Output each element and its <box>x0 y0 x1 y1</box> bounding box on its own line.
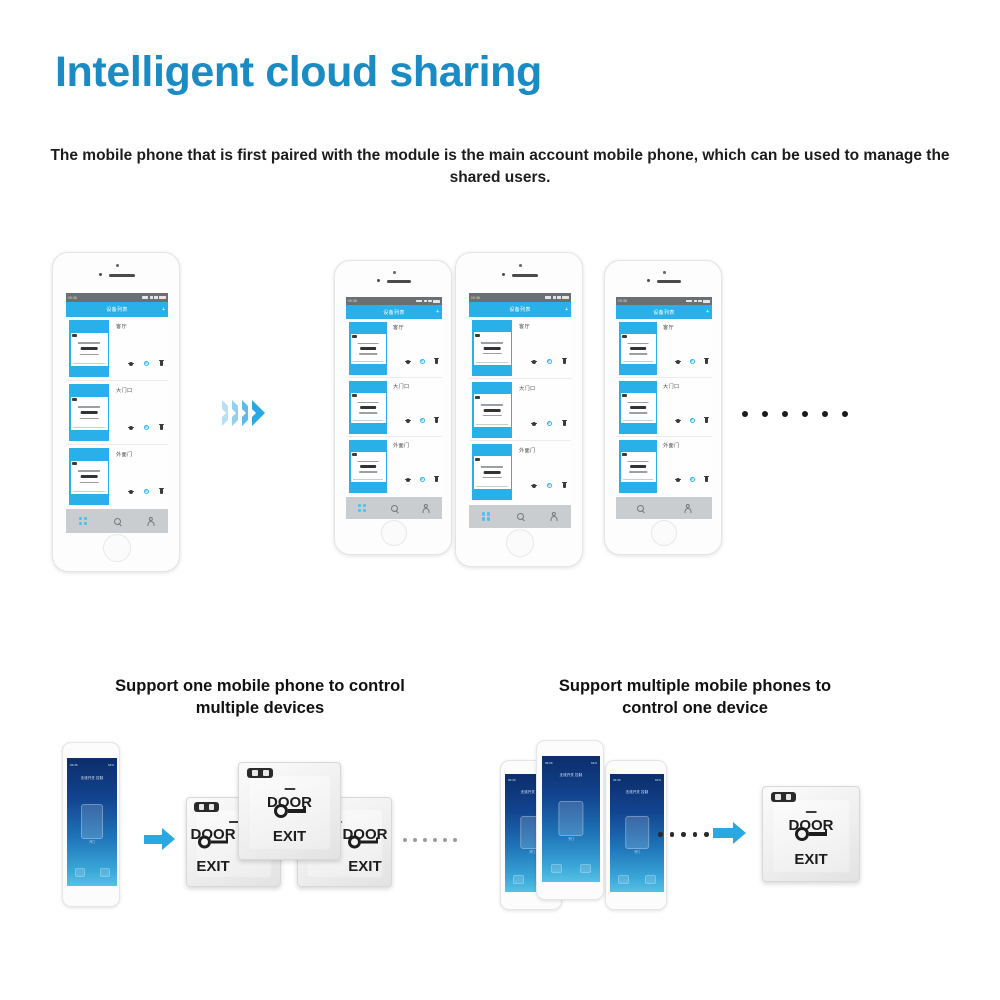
device-name: 外面门 <box>393 442 409 449</box>
power-icon[interactable] <box>420 477 425 482</box>
bottom-nav <box>346 497 442 519</box>
led-icon <box>72 462 77 465</box>
key-icon <box>484 471 501 474</box>
led-indicator <box>771 792 796 802</box>
dot <box>423 838 427 842</box>
signal-icon <box>424 300 427 303</box>
battery-percent-icon <box>686 300 692 303</box>
bottom-actions <box>610 875 664 884</box>
earpiece-icon <box>657 280 681 283</box>
device-list: 客厅 大门口 <box>66 317 168 509</box>
nav-item-profile[interactable] <box>664 504 712 513</box>
dot <box>693 832 698 837</box>
delete-icon[interactable] <box>563 421 566 426</box>
share-icon[interactable] <box>532 360 536 364</box>
phone-screen: 09:36 设备列表 + 客厅 <box>346 297 442 519</box>
key-icon <box>484 347 501 350</box>
device-thumbnail <box>472 444 512 500</box>
app-title: 设备列表 <box>653 309 675 316</box>
nav-item-home[interactable] <box>346 504 378 513</box>
share-icon[interactable] <box>532 484 536 488</box>
power-icon[interactable] <box>144 425 149 430</box>
grid-icon <box>358 504 367 513</box>
status-bar: 09:36 64% <box>67 758 117 772</box>
key-ring <box>795 827 809 841</box>
add-device-button[interactable]: + <box>565 307 568 313</box>
key-ring <box>274 804 288 818</box>
nav-item-profile[interactable] <box>134 517 168 526</box>
device-thumbnail <box>619 440 657 493</box>
status-icons <box>142 296 168 300</box>
status-battery: 64% <box>108 763 114 767</box>
table-row[interactable]: 外面门 <box>469 441 571 503</box>
signal-icon <box>694 300 697 303</box>
key-icon <box>795 827 827 841</box>
power-icon[interactable] <box>547 421 552 426</box>
key-icon <box>630 347 646 350</box>
device-name: 客厅 <box>393 324 404 331</box>
app-header-bar: 设备列表 + <box>346 305 442 319</box>
table-row[interactable]: 客厅 <box>346 319 442 378</box>
led-icon <box>475 334 480 337</box>
plate-word-bottom: EXIT <box>318 858 392 875</box>
section-heading-left-line1: Support one mobile phone to control <box>45 675 475 697</box>
control-phone-left: 09:36 64% 无线开关 控制 开门 <box>62 742 120 907</box>
dot <box>762 411 768 417</box>
grid-icon <box>482 512 491 521</box>
led-icon <box>622 453 627 456</box>
control-phone-right-2: 09:36 64% 无线开关 控制 开门 <box>536 740 604 900</box>
status-bar: 09:36 <box>616 297 712 305</box>
search-icon <box>114 518 121 525</box>
proximity-sensor-icon <box>377 279 380 282</box>
wifi-icon <box>154 296 158 299</box>
power-icon[interactable] <box>547 483 552 488</box>
unlock-button[interactable] <box>625 816 649 849</box>
status-time: 09:36 <box>346 299 357 303</box>
bottom-nav <box>616 497 712 519</box>
chevron-right-icon <box>252 400 265 426</box>
wifi-icon <box>698 300 702 303</box>
nav-item-profile[interactable] <box>537 512 571 521</box>
dot <box>742 411 748 417</box>
status-time: 09:36 <box>469 295 480 299</box>
shared-user-phone-2: 09:36 设备列表 + 客厅 <box>455 252 583 567</box>
status-time: 09:36 <box>616 299 627 303</box>
add-device-button[interactable]: + <box>436 309 439 315</box>
app-title: 无线开关 控制 <box>67 775 117 780</box>
battery-percent-icon <box>142 296 148 299</box>
key-shaft <box>288 809 306 813</box>
action-button[interactable] <box>645 875 656 884</box>
plate-word-bottom: EXIT <box>239 828 340 845</box>
led-indicator <box>247 768 273 779</box>
app-title: 无线开关 控制 <box>610 789 664 794</box>
row-actions <box>676 418 708 423</box>
dot <box>681 832 686 837</box>
led-icon <box>352 453 357 456</box>
action-button[interactable] <box>75 868 85 877</box>
door-exit-switch-front: DOOR EXIT <box>238 762 341 860</box>
row-actions <box>532 359 566 364</box>
device-name: 客厅 <box>116 323 127 330</box>
app-title: 设备列表 <box>383 309 405 316</box>
delete-icon[interactable] <box>563 483 566 488</box>
action-button[interactable] <box>580 864 591 873</box>
delete-icon[interactable] <box>563 359 566 364</box>
signal-icon <box>150 296 153 299</box>
phone-screen: 09:36 设备列表 + 客厅 <box>616 297 712 519</box>
device-thumbnail <box>472 320 512 376</box>
dot <box>433 838 437 842</box>
delete-icon[interactable] <box>160 489 163 494</box>
nav-item-search[interactable] <box>616 505 664 512</box>
dot <box>782 411 788 417</box>
proximity-sensor-icon <box>99 273 102 276</box>
table-row[interactable]: 外面门 <box>346 437 442 496</box>
nav-item-search[interactable] <box>100 518 134 525</box>
action-button[interactable] <box>551 864 562 873</box>
nav-item-home[interactable] <box>66 517 100 526</box>
device-name: 外面门 <box>519 447 535 454</box>
door-exit-switch-single: DOOR EXIT <box>762 786 860 882</box>
key-icon <box>630 465 646 468</box>
section-heading-right-line1: Support multiple mobile phones to <box>480 675 910 697</box>
nav-item-home[interactable] <box>469 512 503 521</box>
device-name: 大门口 <box>519 385 535 392</box>
phone-screen: 09:36 设备列表 + <box>66 293 168 533</box>
page-subtitle: The mobile phone that is first paired wi… <box>50 145 950 190</box>
wifi-icon <box>428 300 432 303</box>
status-time: 09:36 <box>508 778 516 782</box>
front-camera-icon <box>116 264 119 267</box>
row-actions <box>406 477 438 482</box>
user-icon <box>147 517 155 526</box>
status-time: 09:36 <box>545 761 553 765</box>
phone-screen: 09:36 64% 无线开关 控制 开门 <box>67 758 117 886</box>
row-actions <box>676 359 708 364</box>
share-icon[interactable] <box>129 426 133 430</box>
unlock-label: 开门 <box>610 850 664 854</box>
share-icon[interactable] <box>676 419 680 423</box>
action-button[interactable] <box>618 875 629 884</box>
earpiece-icon <box>512 274 538 277</box>
search-icon <box>391 505 398 512</box>
device-name: 大门口 <box>663 383 679 390</box>
grid-icon <box>79 517 88 526</box>
home-button[interactable] <box>381 520 407 546</box>
row-actions <box>532 421 566 426</box>
dot <box>842 411 848 417</box>
action-button[interactable] <box>513 875 524 884</box>
battery-percent-icon <box>545 296 551 299</box>
row-actions <box>406 359 438 364</box>
ellipsis-right-section <box>658 832 720 837</box>
share-icon[interactable] <box>676 478 680 482</box>
battery-icon <box>703 300 710 303</box>
phone-screen: 09:36 64% 无线开关 控制 开门 <box>542 756 600 882</box>
section-heading-right-line2: control one device <box>480 697 910 719</box>
delete-icon[interactable] <box>705 359 708 364</box>
status-bar: 09:36 64% <box>542 756 600 770</box>
bottom-nav <box>66 509 168 533</box>
delete-icon[interactable] <box>705 418 708 423</box>
phone-screen: 09:36 设备列表 + 客厅 <box>469 293 571 528</box>
key-icon <box>81 347 98 350</box>
share-icon[interactable] <box>129 490 133 494</box>
signal-icon <box>553 296 556 299</box>
led-icon <box>72 334 77 337</box>
user-icon <box>684 504 692 513</box>
nav-item-profile[interactable] <box>410 504 442 513</box>
power-icon[interactable] <box>420 359 425 364</box>
device-list: 客厅 大门口 <box>616 319 712 497</box>
led-icon <box>622 394 627 397</box>
share-icon[interactable] <box>406 478 410 482</box>
led-indicator <box>194 802 218 812</box>
user-icon <box>550 512 558 521</box>
status-icons <box>416 300 442 303</box>
battery-icon <box>562 296 569 300</box>
delete-icon[interactable] <box>160 425 163 430</box>
status-bar: 09:36 <box>346 297 442 305</box>
led-icon <box>475 458 480 461</box>
dot <box>670 832 675 837</box>
shared-user-phone-1: 09:36 设备列表 + 客厅 <box>334 260 452 555</box>
device-name: 外面门 <box>663 442 679 449</box>
delete-icon[interactable] <box>435 477 438 482</box>
section-heading-left-line2: multiple devices <box>45 697 475 719</box>
row-actions <box>676 477 708 482</box>
status-icons <box>686 300 712 303</box>
share-icon[interactable] <box>406 419 410 423</box>
key-icon <box>360 465 376 468</box>
device-name: 客厅 <box>663 324 674 331</box>
delete-icon[interactable] <box>435 418 438 423</box>
key-icon <box>81 411 98 414</box>
device-list: 客厅 大门口 <box>346 319 442 497</box>
unlock-button[interactable] <box>81 804 103 839</box>
unlock-label: 开门 <box>67 840 117 844</box>
power-icon[interactable] <box>420 418 425 423</box>
main-account-phone: 09:36 设备列表 + <box>52 252 180 572</box>
device-thumbnail <box>619 381 657 434</box>
status-bar: 09:36 <box>469 293 571 302</box>
power-icon[interactable] <box>690 359 695 364</box>
led-icon <box>352 335 357 338</box>
nav-item-search[interactable] <box>503 513 537 520</box>
table-row[interactable]: 客厅 <box>616 319 712 378</box>
status-time: 09:36 <box>70 763 78 767</box>
status-icons <box>545 296 571 300</box>
battery-icon <box>433 300 440 303</box>
key-icon <box>360 347 376 350</box>
table-row[interactable]: 外面门 <box>66 445 168 509</box>
table-row[interactable]: 大门口 <box>616 378 712 437</box>
home-button[interactable] <box>651 520 677 546</box>
app-header-bar: 设备列表 + <box>469 302 571 317</box>
ellipsis-left-section <box>403 838 457 842</box>
search-icon <box>637 505 644 512</box>
bottom-actions <box>67 868 117 877</box>
led-icon <box>72 398 77 401</box>
action-button[interactable] <box>100 868 110 877</box>
row-actions <box>406 418 438 423</box>
power-icon[interactable] <box>547 359 552 364</box>
arrow-shaft <box>713 828 733 838</box>
user-icon <box>422 504 430 513</box>
device-name: 客厅 <box>519 323 530 330</box>
front-camera-icon <box>393 271 396 274</box>
arrow-shaft <box>144 835 162 844</box>
led-icon <box>475 396 480 399</box>
unlock-label: 开门 <box>542 837 600 841</box>
flow-chevrons <box>222 400 262 426</box>
key-icon <box>81 475 98 478</box>
dot <box>453 838 457 842</box>
key-icon <box>198 836 228 849</box>
arrow-right-icon-left-section <box>144 828 175 850</box>
app-header-bar: 设备列表 + <box>616 305 712 319</box>
plate-word-bottom: EXIT <box>763 851 859 868</box>
bottom-nav <box>469 505 571 528</box>
add-device-button[interactable]: + <box>162 307 165 313</box>
unlock-button[interactable] <box>558 801 583 836</box>
row-actions <box>532 483 566 488</box>
share-icon[interactable] <box>406 360 410 364</box>
table-row[interactable]: 大门口 <box>66 381 168 445</box>
arrow-head <box>733 822 746 844</box>
plate-word-bottom: EXIT <box>186 858 260 875</box>
device-thumbnail <box>69 320 109 377</box>
table-row[interactable]: 客厅 <box>469 317 571 379</box>
status-time: 09:36 <box>613 778 621 782</box>
dot <box>658 832 663 837</box>
app-header-bar: 设备列表 + <box>66 302 168 317</box>
phone-screen: 09:36 64% 无线开关 控制 开门 <box>610 774 664 892</box>
arrow-right-icon-right-section <box>713 822 746 844</box>
device-name: 大门口 <box>393 383 409 390</box>
device-name: 外面门 <box>116 451 132 458</box>
dot <box>413 838 417 842</box>
add-device-button[interactable]: + <box>706 309 709 315</box>
row-actions <box>129 489 163 494</box>
device-thumbnail <box>472 382 512 438</box>
status-battery: 64% <box>591 761 597 765</box>
delete-icon[interactable] <box>705 477 708 482</box>
table-row[interactable]: 大门口 <box>346 378 442 437</box>
delete-icon[interactable] <box>160 361 163 366</box>
plate-dash <box>806 811 817 813</box>
arrow-head <box>162 828 175 850</box>
status-bar: 09:36 <box>66 293 168 302</box>
power-icon[interactable] <box>690 418 695 423</box>
front-camera-icon <box>519 264 522 267</box>
led-icon <box>622 335 627 338</box>
section-heading-right: Support multiple mobile phones to contro… <box>480 675 910 720</box>
device-thumbnail <box>349 322 387 375</box>
status-battery: 64% <box>655 778 661 782</box>
device-name: 大门口 <box>116 387 132 394</box>
dot <box>443 838 447 842</box>
share-icon[interactable] <box>676 360 680 364</box>
home-button[interactable] <box>103 534 131 562</box>
led-icon <box>352 394 357 397</box>
dot <box>822 411 828 417</box>
dot <box>802 411 808 417</box>
power-icon[interactable] <box>144 489 149 494</box>
plate-dash <box>284 788 295 790</box>
proximity-sensor-icon <box>647 279 650 282</box>
earpiece-icon <box>387 280 411 283</box>
nav-item-search[interactable] <box>378 505 410 512</box>
wifi-icon <box>557 296 561 299</box>
page-title: Intelligent cloud sharing <box>55 48 542 97</box>
bottom-actions <box>542 864 600 873</box>
status-bar: 09:36 64% <box>610 774 664 787</box>
status-time: 09:36 <box>66 295 77 299</box>
key-shaft <box>361 840 378 844</box>
shared-user-phone-3: 09:36 设备列表 + 客厅 <box>604 260 722 555</box>
ellipsis-top <box>742 411 848 417</box>
key-icon <box>360 406 376 409</box>
proximity-sensor-icon <box>502 273 505 276</box>
app-title: 设备列表 <box>106 306 128 313</box>
share-icon[interactable] <box>129 362 133 366</box>
dot <box>704 832 709 837</box>
key-icon <box>484 409 501 412</box>
row-actions <box>129 425 163 430</box>
device-thumbnail <box>349 440 387 493</box>
key-icon <box>274 804 306 818</box>
device-thumbnail <box>349 381 387 434</box>
front-camera-icon <box>663 271 666 274</box>
key-shaft <box>809 832 827 836</box>
key-ring <box>348 836 361 849</box>
dot <box>403 838 407 842</box>
delete-icon[interactable] <box>435 359 438 364</box>
earpiece-icon <box>109 274 135 277</box>
section-heading-left: Support one mobile phone to control mult… <box>45 675 475 720</box>
share-icon[interactable] <box>532 422 536 426</box>
battery-percent-icon <box>416 300 422 303</box>
battery-icon <box>159 296 166 300</box>
row-actions <box>129 361 163 366</box>
table-row[interactable]: 外面门 <box>616 437 712 496</box>
device-thumbnail <box>69 384 109 441</box>
device-list: 客厅 大门口 <box>469 317 571 505</box>
power-icon[interactable] <box>144 361 149 366</box>
key-icon <box>348 836 378 849</box>
app-title: 设备列表 <box>509 306 531 313</box>
infographic-page: Intelligent cloud sharing The mobile pho… <box>0 0 1000 1000</box>
device-thumbnail <box>619 322 657 375</box>
power-icon[interactable] <box>690 477 695 482</box>
home-button[interactable] <box>506 529 534 557</box>
key-ring <box>198 836 211 849</box>
device-thumbnail <box>69 448 109 505</box>
search-icon <box>517 513 524 520</box>
key-shaft <box>211 840 228 844</box>
table-row[interactable]: 大门口 <box>469 379 571 441</box>
table-row[interactable]: 客厅 <box>66 317 168 381</box>
app-title: 无线开关 控制 <box>542 772 600 777</box>
key-icon <box>630 406 646 409</box>
